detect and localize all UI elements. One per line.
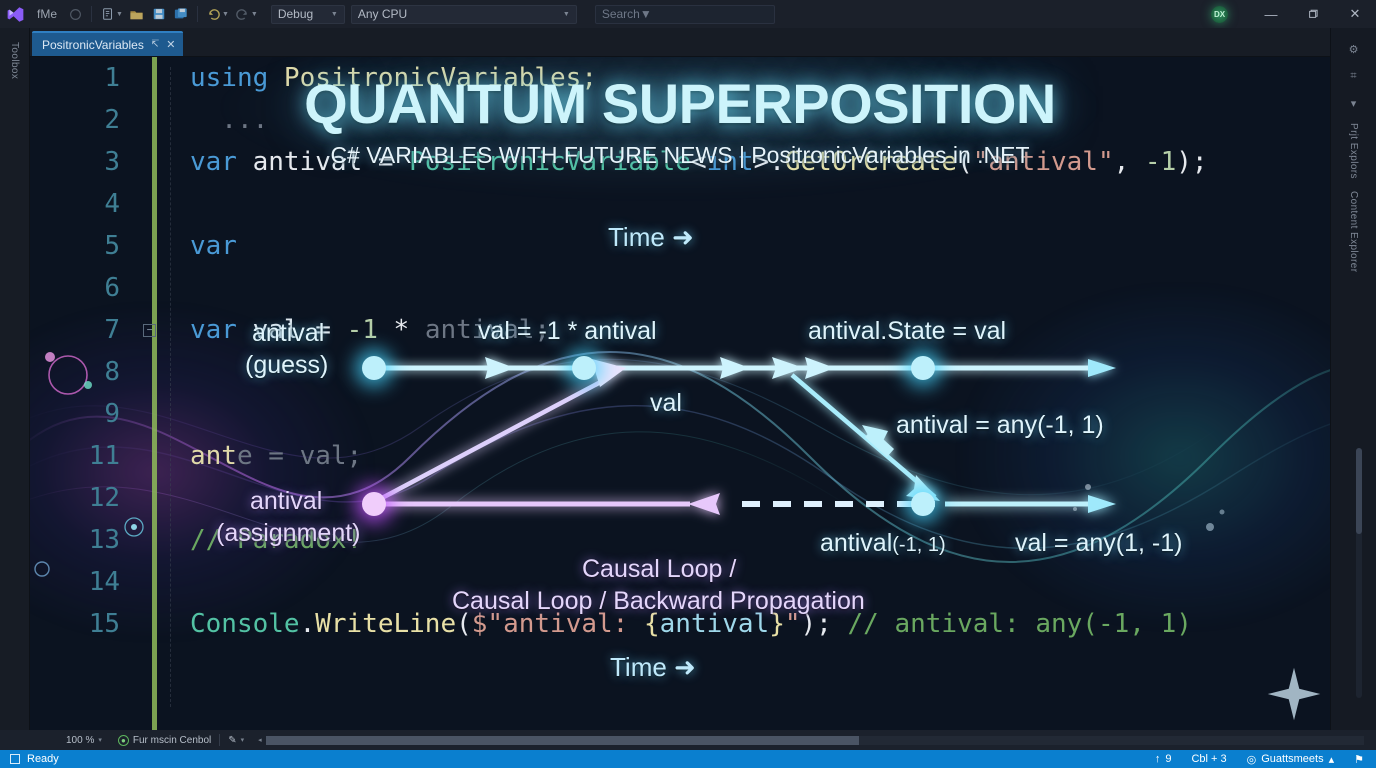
code-token: );: [1176, 147, 1207, 177]
line-number: 12: [30, 477, 150, 519]
code-token: *: [378, 315, 425, 345]
code-line[interactable]: [190, 561, 1330, 603]
pencil-tool[interactable]: ✎ ▾: [220, 735, 252, 746]
search-input[interactable]: Search ▼: [595, 5, 775, 24]
code-token: =: [378, 147, 409, 177]
chevron-down-icon: ▾: [241, 736, 245, 744]
code-token: Console: [190, 609, 300, 639]
open-folder-icon[interactable]: [126, 3, 148, 25]
code-token: var: [190, 231, 237, 261]
change-indicator-bar: [152, 57, 157, 730]
save-icon[interactable]: [148, 3, 170, 25]
code-token: GetOrCreate: [785, 147, 957, 177]
chevron-up-icon: ▴: [1329, 753, 1335, 766]
chevron-down-icon: ▼: [563, 11, 570, 18]
redo-icon[interactable]: [232, 3, 254, 25]
code-token: var: [190, 315, 253, 345]
code-token: ": [785, 609, 801, 639]
code-line[interactable]: // Paradox!: [190, 519, 1330, 561]
line-number: 9: [30, 393, 150, 435]
chevron-down-icon: ▼: [331, 11, 338, 18]
line-number: 1: [30, 57, 150, 99]
code-token: ant: [190, 441, 237, 471]
code-token: <: [691, 147, 707, 177]
chevron-down-icon: ▼: [640, 7, 652, 21]
code-token: // Paradox!: [190, 525, 362, 555]
scope-selector[interactable]: ● Fur mscin Cenbol: [110, 735, 219, 746]
code-token: ...: [190, 105, 268, 135]
indent-guide: [170, 67, 171, 707]
undo-icon[interactable]: [203, 3, 225, 25]
code-token: {: [644, 609, 660, 639]
code-token: var: [190, 147, 253, 177]
pending-count: 9: [1165, 753, 1171, 765]
line-number: 11: [30, 435, 150, 477]
chevron-down-icon[interactable]: ▾: [1351, 97, 1357, 110]
code-token: >.: [754, 147, 785, 177]
code-token: using: [190, 63, 284, 93]
code-token: =: [253, 441, 300, 471]
build-configuration-value: Debug: [278, 7, 331, 21]
visual-studio-logo-icon: [0, 0, 30, 28]
horizontal-scrollbar-track[interactable]: [266, 736, 1364, 745]
toolbar-divider-2: [197, 6, 198, 22]
code-line[interactable]: ...: [190, 99, 1330, 141]
chevron-down-icon: ▾: [98, 736, 102, 744]
code-token: antival:: [503, 609, 644, 639]
application-window: fMe ▼ ▼ ▼ Debug ▼ Any CPU: [0, 0, 1376, 768]
code-token: -1: [347, 315, 378, 345]
repo-icon: ◎: [1247, 753, 1257, 766]
code-line[interactable]: Console.WriteLine($"antival: {antival}")…: [190, 603, 1330, 645]
time-label-bottom: Time ➜: [610, 652, 696, 683]
sparkle-decoration-icon: [1266, 666, 1322, 722]
tab-positronicvariables[interactable]: PositronicVariables ↸ ✕: [32, 31, 183, 56]
status-right-group: ↑ 9 Cbl + 3 ◎ Guattsmeets ▴ ⚑: [1155, 753, 1376, 766]
code-token: int: [707, 147, 754, 177]
line-number: 13: [30, 519, 150, 561]
search-placeholder: Search: [602, 7, 640, 21]
code-text[interactable]: using PositronicVariables; ...var antiva…: [190, 57, 1330, 645]
line-number: 15: [30, 603, 150, 645]
account-avatar[interactable]: DX: [1211, 6, 1228, 23]
pencil-icon: ✎: [228, 735, 236, 746]
code-token: antival: [253, 147, 378, 177]
project-explorer-label[interactable]: Prjt Explors: [1348, 117, 1359, 185]
build-configuration-dropdown[interactable]: Debug ▼: [271, 5, 345, 24]
bell-icon: ⚑: [1354, 753, 1364, 766]
code-line[interactable]: ante = val;: [190, 435, 1330, 477]
back-nav-icon[interactable]: [64, 3, 86, 25]
collapse-region-icon[interactable]: −: [143, 324, 156, 337]
code-line[interactable]: var val = -1 * antival;: [190, 309, 1330, 351]
code-token: }: [769, 609, 785, 639]
code-token: "antival": [973, 147, 1114, 177]
line-number-column: 1234567891112131415: [30, 57, 150, 645]
code-line[interactable]: [190, 393, 1330, 435]
close-button[interactable]: ✕: [1334, 0, 1376, 28]
scope-value: Fur mscin Cenbol: [133, 735, 211, 746]
tab-label: PositronicVariables: [42, 38, 144, 52]
window-controls: DX — ✕: [1211, 0, 1376, 28]
code-line[interactable]: [190, 351, 1330, 393]
left-rail: Toolbox: [0, 28, 30, 738]
notifications-button[interactable]: ⚑: [1354, 753, 1364, 766]
new-project-icon[interactable]: [97, 3, 119, 25]
toolbox-label[interactable]: Toolbox: [9, 36, 20, 85]
arrow-right-icon: ➜: [674, 652, 696, 682]
line-number: 7: [30, 309, 150, 351]
horizontal-scrollbar-thumb[interactable]: [266, 736, 859, 745]
zoom-level-dropdown[interactable]: 100 % ▾: [58, 735, 110, 746]
gear-icon[interactable]: ⚙: [1349, 43, 1359, 56]
code-token: e: [237, 441, 253, 471]
vertical-scrollbar-thumb[interactable]: [1356, 448, 1362, 534]
code-editor[interactable]: 1234567891112131415 − using PositronicVa…: [30, 57, 1330, 730]
code-line[interactable]: using PositronicVariables;: [190, 57, 1330, 99]
pin-icon[interactable]: ⌗: [1350, 70, 1356, 83]
maximize-button[interactable]: [1292, 0, 1334, 28]
line-number: 5: [30, 225, 150, 267]
code-token: antival;: [425, 315, 550, 345]
status-icon: [10, 754, 20, 764]
repository-indicator[interactable]: ◎ Guattsmeets ▴: [1247, 753, 1335, 766]
minimize-button[interactable]: —: [1250, 0, 1292, 28]
line-number: 3: [30, 141, 150, 183]
code-token: antival: [660, 609, 770, 639]
code-token: (: [456, 609, 472, 639]
code-token: WriteLine: [315, 609, 456, 639]
code-token: .: [300, 609, 316, 639]
toolbar-divider: [91, 6, 92, 22]
code-line[interactable]: [190, 183, 1330, 225]
code-token: (: [957, 147, 973, 177]
code-token: =: [315, 315, 346, 345]
pending-changes[interactable]: ↑ 9: [1155, 753, 1172, 765]
line-number: 8: [30, 351, 150, 393]
content-explorer-label[interactable]: Content Explorer: [1348, 185, 1359, 278]
title-bar: fMe ▼ ▼ ▼ Debug ▼ Any CPU: [0, 0, 1376, 28]
save-all-icon[interactable]: [170, 3, 192, 25]
status-bar: Ready ↑ 9 Cbl + 3 ◎ Guattsmeets ▴ ⚑: [0, 750, 1376, 768]
branch-indicator[interactable]: Cbl + 3: [1191, 753, 1226, 765]
code-token: $": [472, 609, 503, 639]
scroll-left-icon[interactable]: ◂: [252, 736, 262, 744]
code-token: );: [801, 609, 848, 639]
platform-value: Any CPU: [358, 7, 563, 21]
status-ready-group: Ready: [0, 753, 59, 765]
tab-strip: PositronicVariables ↸ ✕ ▼ ⚙: [0, 28, 1376, 57]
pin-icon[interactable]: ↸: [151, 39, 159, 50]
line-number: 14: [30, 561, 150, 603]
code-line[interactable]: [190, 477, 1330, 519]
code-token: val;: [300, 441, 363, 471]
menu-file[interactable]: fMe: [30, 0, 64, 28]
editor-gutter: 1234567891112131415: [30, 57, 150, 730]
code-line[interactable]: [190, 267, 1330, 309]
code-line[interactable]: var antival = PositronicVariable<int>.Ge…: [190, 141, 1330, 183]
method-icon: ●: [118, 735, 129, 746]
line-number: 2: [30, 99, 150, 141]
line-number: 4: [30, 183, 150, 225]
repo-name: Guattsmeets: [1261, 753, 1323, 765]
arrow-up-icon: ↑: [1155, 753, 1161, 765]
code-token: // antival: any(-1, 1): [848, 609, 1192, 639]
code-token: val: [253, 315, 316, 345]
code-token: ,: [1114, 147, 1145, 177]
status-text: Ready: [27, 753, 59, 765]
zoom-level-value: 100 %: [66, 735, 94, 746]
code-token: PositronicVariables;: [284, 63, 597, 93]
code-token: -1: [1145, 147, 1176, 177]
code-line[interactable]: var: [190, 225, 1330, 267]
code-token: PositronicVariable: [409, 147, 691, 177]
editor-status-bar: 100 % ▾ ● Fur mscin Cenbol ✎ ▾ ◂: [0, 730, 1376, 750]
right-rail: ⚙ ⌗ ▾ Prjt Explors Content Explorer: [1330, 28, 1376, 738]
platform-dropdown[interactable]: Any CPU ▼: [351, 5, 577, 24]
line-number: 6: [30, 267, 150, 309]
close-icon[interactable]: ✕: [166, 38, 175, 51]
